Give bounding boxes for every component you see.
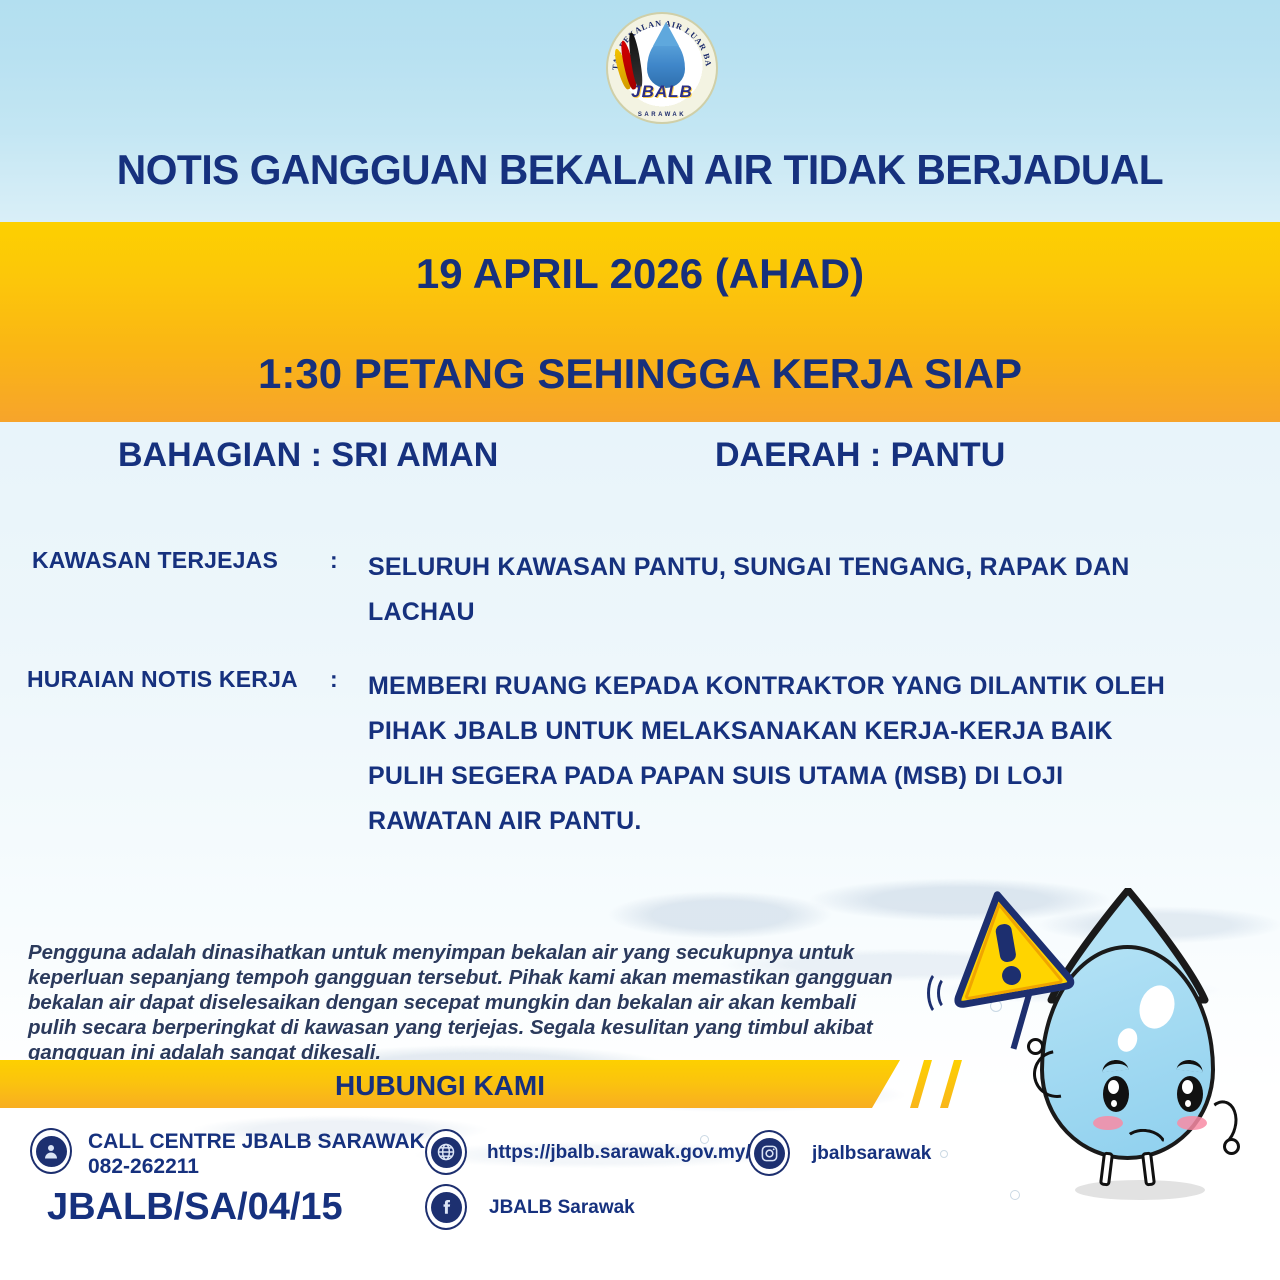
bubble-icon [940, 1150, 948, 1158]
page-title: NOTIS GANGGUAN BEKALAN AIR TIDAK BERJADU… [19, 146, 1261, 194]
disclaimer-text: Pengguna adalah dinasihatkan untuk menyi… [28, 940, 908, 1065]
reference-number: JBALB/SA/04/15 [47, 1186, 343, 1229]
daerah-text: DAERAH : PANTU [715, 436, 1005, 475]
kawasan-terjejas-label: KAWASAN TERJEJAS [32, 547, 278, 574]
instagram-icon [748, 1130, 790, 1176]
camera-icon [754, 1138, 785, 1169]
kawasan-colon: : [330, 547, 338, 574]
instagram-handle[interactable]: jbalbsarawak [812, 1143, 931, 1165]
call-centre-icon [30, 1128, 72, 1174]
facebook-f-icon [431, 1192, 462, 1223]
call-centre-number[interactable]: 082-262211 [88, 1155, 199, 1179]
contact-bar-label: HUBUNGI KAMI [0, 1070, 880, 1102]
disruption-time: 1:30 PETANG SEHINGGA KERJA SIAP [0, 350, 1280, 398]
mascot-left-hand [1027, 1038, 1044, 1055]
region-row: BAHAGIAN : SRI AMAN DAERAH : PANTU [0, 436, 1280, 490]
facebook-icon [425, 1184, 467, 1230]
bahagian-text: BAHAGIAN : SRI AMAN [118, 436, 498, 475]
mascot-right-eye [1177, 1076, 1203, 1112]
disruption-date: 19 APRIL 2026 (AHAD) [0, 250, 1280, 298]
mascot-left-eye [1103, 1076, 1129, 1112]
mascot-left-blush [1093, 1116, 1123, 1130]
logo-sarawak-text: SARAWAK [598, 112, 726, 118]
call-centre-label: CALL CENTRE JBALB SARAWAK [88, 1130, 425, 1154]
jbalb-logo: JABATAN BEKALAN AIR LUAR BANDAR JBALB SA… [598, 8, 724, 130]
mascot-right-blush [1177, 1116, 1207, 1130]
huraian-notis-kerja-label: HURAIAN NOTIS KERJA [27, 666, 298, 693]
huraian-notis-kerja-value: MEMBERI RUANG KEPADA KONTRAKTOR YANG DIL… [368, 664, 1173, 844]
water-droplet-mascot [955, 880, 1280, 1280]
mascot-right-hand [1223, 1138, 1240, 1155]
warning-triangle-exclamation-icon [934, 878, 1078, 1010]
facebook-page-name[interactable]: JBALB Sarawak [489, 1197, 635, 1219]
person-icon [36, 1136, 67, 1167]
website-icon [425, 1129, 467, 1175]
globe-icon [431, 1137, 462, 1168]
website-url[interactable]: https://jbalb.sarawak.gov.my/ [487, 1142, 751, 1164]
logo-wordmark: JBALB [598, 82, 726, 102]
huraian-colon: : [330, 666, 338, 693]
notice-poster: JABATAN BEKALAN AIR LUAR BANDAR JBALB SA… [0, 0, 1280, 1280]
kawasan-terjejas-value: SELURUH KAWASAN PANTU, SUNGAI TENGANG, R… [368, 545, 1168, 635]
mascot-shadow [1075, 1180, 1205, 1200]
